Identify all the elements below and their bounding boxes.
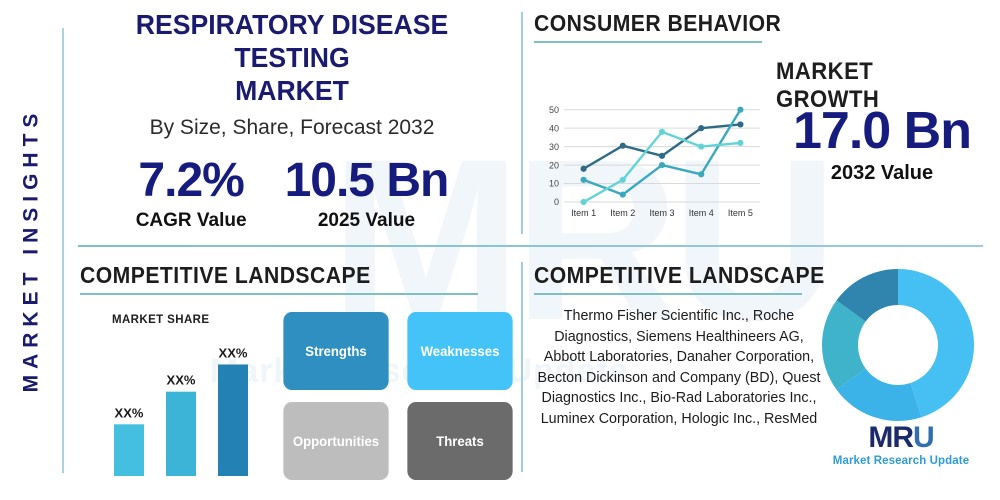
brand-tagline: Market Research Update [826,455,976,467]
competitive-landscape-left-heading: COMPETITIVE LANDSCAPE [80,262,371,289]
vertical-divider-top [521,12,523,234]
market-share-donut-chart [818,265,978,425]
page-title-line-1: RESPIRATORY DISEASE TESTING [77,8,506,74]
swot-grid: Strengths Weaknesses Opportunities Threa… [280,312,520,484]
stat-2025: 10.5 Bn 2025 Value [285,154,449,232]
horizontal-divider [78,245,983,247]
svg-text:XX%: XX% [167,373,196,388]
svg-text:Item 3: Item 3 [649,208,674,218]
stat-cagr-value: 7.2% [136,154,247,208]
page-subtitle: By Size, Share, Forecast 2032 [66,116,518,140]
swot-box-strengths[interactable]: Strengths [283,312,388,390]
consumer-behavior-heading: CONSUMER BEHAVIOR [534,10,781,37]
side-label-text: MARKET INSIGHTS [19,108,43,393]
svg-text:XX%: XX% [115,405,144,420]
market-growth-label: 2032 Value [782,162,982,185]
svg-text:50: 50 [549,105,559,115]
svg-text:Item 4: Item 4 [689,208,714,218]
svg-text:Item 5: Item 5 [728,208,753,218]
brand-logo: MRU Market Research Update [826,422,976,467]
competitive-landscape-right-underline [534,293,802,295]
market-growth-value: 17.0 Bn [782,102,982,160]
brand-logo-mark: MRU [826,422,976,454]
vertical-divider-bottom [521,262,523,472]
infographic-canvas: MRU Market Research Update MARKET INSIGH… [0,0,1000,500]
brand-logo-mr: MR [868,421,913,454]
line-chart-svg: 01020304050Item 1Item 2Item 3Item 4Item … [534,98,764,226]
svg-text:20: 20 [549,160,559,170]
brand-logo-u: U [913,421,934,454]
consumer-behavior-underline [534,41,762,43]
key-companies-list: Thermo Fisher Scientific Inc., Roche Dia… [534,306,824,429]
bar-chart-svg: XX%XX%XX% [94,310,284,482]
swot-box-opportunities[interactable]: Opportunities [283,402,388,480]
consumer-behavior-panel: CONSUMER BEHAVIOR MARKET GROWTH 17.0 Bn … [534,10,994,240]
vertical-divider-main [62,28,64,473]
market-insights-side-label: MARKET INSIGHTS [0,0,62,500]
headline-stats: 7.2% CAGR Value 10.5 Bn 2025 Value [66,154,518,232]
page-title: RESPIRATORY DISEASE TESTING MARKET [77,8,506,107]
svg-text:Item 2: Item 2 [610,208,635,218]
svg-text:Item 1: Item 1 [571,208,596,218]
svg-text:0: 0 [554,197,559,207]
swot-box-threats[interactable]: Threats [407,402,512,480]
competitive-landscape-right-panel: COMPETITIVE LANDSCAPE Thermo Fisher Scie… [534,262,994,492]
market-share-bar-chart: XX%XX%XX% [94,310,284,482]
page-title-line-2: MARKET [77,74,506,107]
stat-2025-value: 10.5 Bn [285,154,449,208]
donut-chart-svg [818,265,978,425]
stat-cagr-label: CAGR Value [136,210,247,232]
title-panel: RESPIRATORY DISEASE TESTING MARKET By Si… [66,8,518,240]
svg-text:10: 10 [549,179,559,189]
stat-cagr: 7.2% CAGR Value [136,154,247,232]
stat-2025-label: 2025 Value [285,210,449,232]
svg-text:30: 30 [549,142,559,152]
competitive-landscape-left-panel: COMPETITIVE LANDSCAPE MARKET SHARE XX%XX… [80,262,520,492]
svg-text:40: 40 [549,123,559,133]
competitive-landscape-left-underline [80,293,478,295]
consumer-behavior-line-chart: 01020304050Item 1Item 2Item 3Item 4Item … [534,98,764,226]
competitive-landscape-right-heading: COMPETITIVE LANDSCAPE [534,262,825,289]
svg-text:XX%: XX% [219,345,248,360]
swot-box-weaknesses[interactable]: Weaknesses [407,312,512,390]
